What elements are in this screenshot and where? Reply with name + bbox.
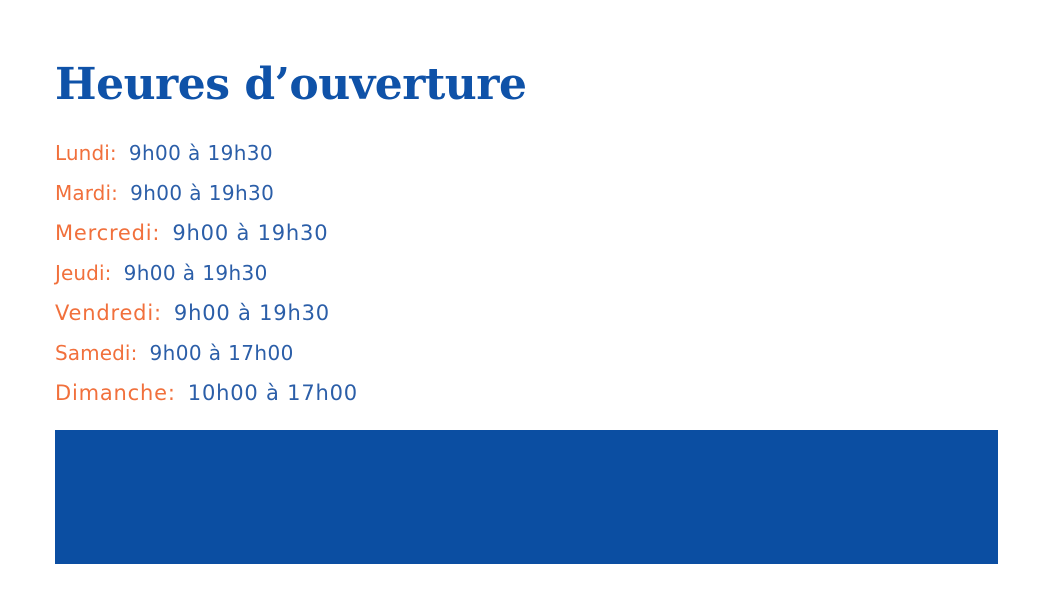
hours-row-vendredi: Vendredi: 9h00 à 19h30 [55, 293, 755, 333]
opening-hours-list: Lundi: 9h00 à 19h30 Mardi: 9h00 à 19h30 … [55, 133, 755, 413]
hours-row-samedi: Samedi: 9h00 à 17h00 [55, 333, 755, 373]
day-hours-mardi: 9h00 à 19h30 [130, 181, 274, 205]
page-title: Heures d’ouverture [55, 62, 526, 108]
hours-row-dimanche: Dimanche: 10h00 à 17h00 [55, 373, 755, 413]
hours-row-lundi: Lundi: 9h00 à 19h30 [55, 133, 755, 173]
day-hours-lundi: 9h00 à 19h30 [129, 141, 273, 165]
blue-banner-block [55, 430, 998, 564]
hours-row-mercredi: Mercredi: 9h00 à 19h30 [55, 213, 755, 253]
hours-row-mardi: Mardi: 9h00 à 19h30 [55, 173, 755, 213]
day-label-dimanche: Dimanche: [55, 381, 176, 405]
day-label-samedi: Samedi: [55, 341, 137, 365]
day-hours-dimanche: 10h00 à 17h00 [188, 381, 358, 405]
day-hours-jeudi: 9h00 à 19h30 [124, 261, 268, 285]
day-hours-vendredi: 9h00 à 19h30 [174, 301, 330, 325]
day-label-mercredi: Mercredi: [55, 221, 160, 245]
day-label-vendredi: Vendredi: [55, 301, 162, 325]
hours-row-jeudi: Jeudi: 9h00 à 19h30 [55, 253, 755, 293]
day-label-mardi: Mardi: [55, 181, 118, 205]
day-hours-mercredi: 9h00 à 19h30 [172, 221, 328, 245]
day-hours-samedi: 9h00 à 17h00 [150, 341, 294, 365]
day-label-jeudi: Jeudi: [55, 261, 111, 285]
day-label-lundi: Lundi: [55, 141, 117, 165]
slide-canvas: Heures d’ouverture Lundi: 9h00 à 19h30 M… [0, 0, 1050, 600]
